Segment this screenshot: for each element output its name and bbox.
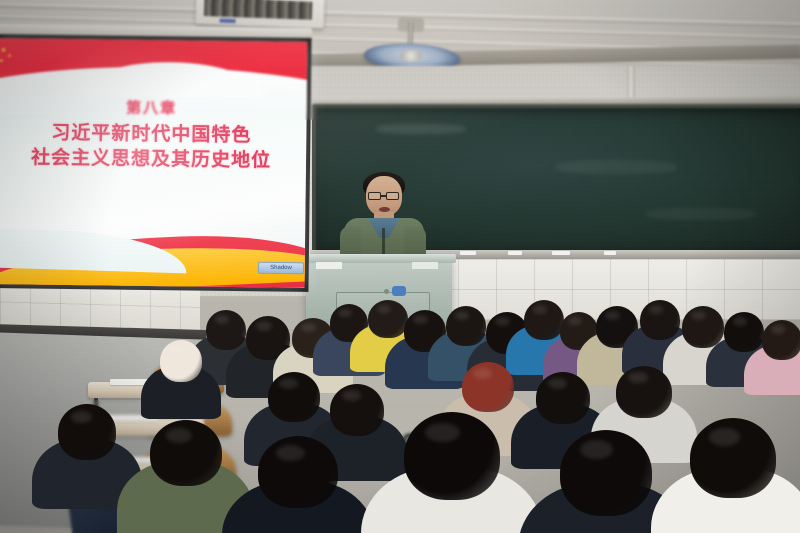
hair-highlight xyxy=(628,372,648,383)
hair-highlight xyxy=(215,315,229,324)
classroom-photo: ★ ★ ★ 第八章 习近平新时代中国特色 社会主义思想及其历史地位 Shadow… xyxy=(0,0,800,533)
hair-highlight xyxy=(533,305,547,314)
hair-highlight xyxy=(256,321,272,331)
hair-highlight xyxy=(71,411,92,423)
hair-highlight xyxy=(342,390,361,401)
hair-highlight xyxy=(649,305,663,314)
audience-area xyxy=(0,0,800,533)
hair-highlight xyxy=(413,315,428,324)
hair-highlight xyxy=(166,428,192,443)
hair-highlight xyxy=(580,440,613,459)
hair-highlight xyxy=(276,445,305,461)
hair-highlight xyxy=(473,368,492,379)
hair-highlight xyxy=(301,323,316,332)
hair-highlight xyxy=(455,311,469,320)
hair-highlight xyxy=(709,428,740,446)
hair-highlight xyxy=(548,378,567,389)
hair-highlight xyxy=(279,378,298,389)
hair-highlight xyxy=(733,317,747,326)
hair-highlight xyxy=(169,345,184,354)
hair-highlight xyxy=(495,317,510,326)
hair-highlight xyxy=(338,309,352,317)
hair-highlight xyxy=(691,311,706,320)
hair-highlight xyxy=(605,311,620,320)
hair-highlight xyxy=(568,317,582,325)
hair-highlight xyxy=(771,325,785,334)
hair-highlight xyxy=(425,423,460,442)
hair-highlight xyxy=(377,305,391,313)
